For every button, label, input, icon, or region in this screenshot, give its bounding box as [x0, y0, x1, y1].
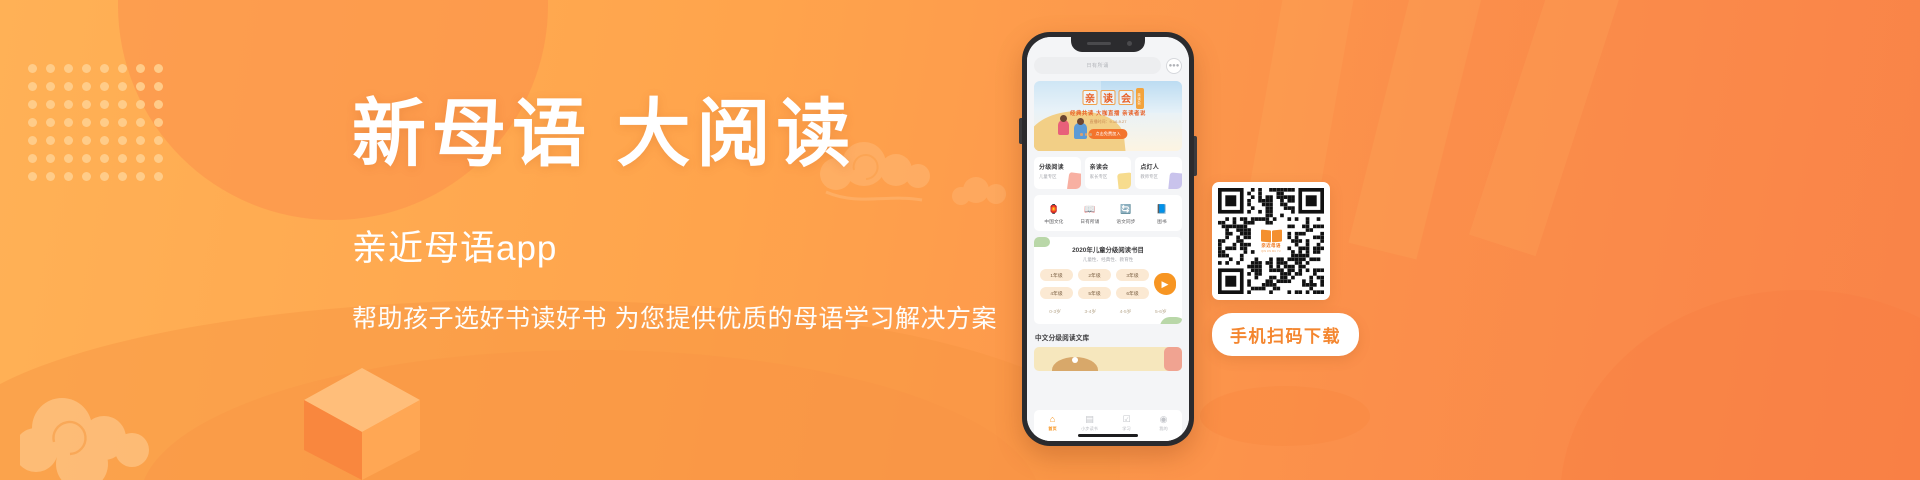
booklist-subtitle: 儿童性、经典性、教育性: [1040, 257, 1176, 263]
grade-pill[interactable]: 3年级: [1116, 269, 1149, 281]
app-ui: 日有所诵 ●●● 亲 读 会 亲读会 经典共读 大咖直播 亲读者说 直播时间：9…: [1027, 37, 1189, 441]
library-card[interactable]: [1034, 347, 1182, 371]
app-name: 亲近母语app: [352, 220, 1012, 271]
tab-reading[interactable]: ▤小步读书: [1071, 415, 1108, 432]
app-icon-label: 图书: [1157, 219, 1167, 225]
age-row: 0-3岁3-4岁4-5岁5-6岁: [1040, 305, 1176, 317]
grade-row-2: 4年级5年级6年级: [1040, 287, 1149, 299]
qr-download-block: 亲近母语 QIN JIN MU YU 手机扫码下载: [1212, 182, 1330, 356]
tab-icon: ◉: [1160, 415, 1168, 424]
grade-pill[interactable]: 2年级: [1078, 269, 1111, 281]
app-category-cards: 分级阅读儿童专区亲读会家长专区点灯人教师专区: [1034, 157, 1182, 189]
tab-home[interactable]: ⌂首页: [1034, 415, 1071, 432]
category-card-title: 点灯人: [1140, 162, 1177, 171]
banner-copy: 新母语 大阅读 亲近母语app 帮助孩子选好书读好书 为您提供优质的母语学习解决…: [352, 96, 1012, 335]
decor-cloud-bottom-left: [20, 376, 190, 480]
category-card[interactable]: 分级阅读儿童专区: [1034, 157, 1081, 189]
category-card[interactable]: 点灯人教师专区: [1135, 157, 1182, 189]
decor-light-ray: [1469, 0, 1628, 256]
phone-screen: 日有所诵 ●●● 亲 读 会 亲读会 经典共读 大咖直播 亲读者说 直播时间：9…: [1027, 37, 1189, 441]
qr-code-icon: 亲近母语 QIN JIN MU YU: [1218, 188, 1324, 294]
hero-flag: 亲读会: [1136, 88, 1144, 109]
age-pill[interactable]: 5-6岁: [1146, 305, 1176, 317]
category-card[interactable]: 亲读会家长专区: [1085, 157, 1132, 189]
app-icon-label: 语文同步: [1116, 219, 1135, 225]
qr-card[interactable]: 亲近母语 QIN JIN MU YU: [1212, 182, 1330, 300]
play-video-button[interactable]: ▶: [1154, 273, 1176, 295]
search-input[interactable]: 日有所诵: [1034, 57, 1161, 74]
hero-carousel-dots[interactable]: [1080, 133, 1092, 136]
tab-label: 小步读书: [1081, 426, 1098, 432]
app-hero-banner[interactable]: 亲 读 会 亲读会 经典共读 大咖直播 亲读者说 直播时间：9.16-9.27 …: [1034, 81, 1182, 151]
book-icon: [1261, 230, 1282, 242]
category-card-shape: [1066, 172, 1080, 189]
booklist-title: 2020年儿童分级阅读书目: [1040, 245, 1176, 254]
app-icon-label: 日有所诵: [1080, 219, 1099, 225]
page-title: 新母语 大阅读: [352, 96, 1012, 176]
decor-circle-under-phone: [1200, 386, 1370, 446]
library-heading: 中文分级阅读文库: [1035, 332, 1181, 342]
chinese-culture-icon: 🏮: [1047, 202, 1061, 216]
hero-char: 会: [1119, 90, 1134, 105]
app-icon-cell[interactable]: 🏮中国文化: [1036, 202, 1072, 225]
age-pill[interactable]: 4-5岁: [1111, 305, 1141, 317]
category-card-shape: [1117, 172, 1131, 189]
age-pill[interactable]: 3-4岁: [1075, 305, 1105, 317]
message-icon[interactable]: ●●●: [1166, 58, 1182, 74]
app-icon-cell[interactable]: 🔄语文同步: [1108, 202, 1144, 225]
phone-mockup: 日有所诵 ●●● 亲 读 会 亲读会 经典共读 大咖直播 亲读者说 直播时间：9…: [1022, 32, 1194, 446]
decor-light-ray: [1348, 0, 1488, 260]
grade-pill[interactable]: 6年级: [1116, 287, 1149, 299]
brand-logo: 亲近母语 QIN JIN MU YU: [1255, 225, 1287, 257]
sync-lesson-icon: 🔄: [1119, 202, 1133, 216]
tab-label: 我的: [1159, 426, 1167, 432]
tab-icon: ⌂: [1050, 415, 1055, 424]
app-booklist-section: 2020年儿童分级阅读书目 儿童性、经典性、教育性 1年级2年级3年级 4年级5…: [1034, 237, 1182, 324]
tab-icon: ☑: [1122, 415, 1130, 424]
tab-mine[interactable]: ◉我的: [1145, 415, 1182, 432]
tab-study[interactable]: ☑学习: [1108, 415, 1145, 432]
decor-circle-bottom-right: [1560, 290, 1920, 480]
grade-pill[interactable]: 1年级: [1040, 269, 1073, 281]
daily-recite-icon: 📖: [1083, 202, 1097, 216]
home-indicator: [1078, 434, 1138, 437]
hero-date: 直播时间：9.16-9.27: [1090, 119, 1127, 125]
phone-notch: [1071, 37, 1145, 52]
promo-banner: 新母语 大阅读 亲近母语app 帮助孩子选好书读好书 为您提供优质的母语学习解决…: [0, 0, 1920, 480]
app-icon-row: 🏮中国文化📖日有所诵🔄语文同步📘图书: [1034, 195, 1182, 231]
category-card-title: 亲读会: [1090, 162, 1127, 171]
download-button[interactable]: 手机扫码下载: [1212, 313, 1359, 356]
tab-icon: ▤: [1085, 415, 1094, 424]
app-icon-label: 中国文化: [1044, 219, 1063, 225]
category-card-title: 分级阅读: [1039, 162, 1076, 171]
brand-name: 亲近母语: [1261, 243, 1281, 249]
tab-label: 首页: [1048, 426, 1056, 432]
decor-hill-secondary: [140, 350, 1040, 480]
hero-subtitle: 经典共读 大咖直播 亲读者说: [1070, 109, 1146, 117]
decor-cube: [300, 362, 424, 480]
hero-title: 亲 读 会: [1083, 90, 1134, 105]
app-icon-cell[interactable]: 📘图书: [1144, 202, 1180, 225]
grade-row-1: 1年级2年级3年级: [1040, 269, 1149, 281]
banner-tagline: 帮助孩子选好书读好书 为您提供优质的母语学习解决方案: [352, 299, 1012, 335]
category-card-shape: [1168, 172, 1182, 189]
hero-join-button[interactable]: 点击免费加入: [1088, 129, 1127, 139]
grade-pill[interactable]: 4年级: [1040, 287, 1073, 299]
hero-char: 读: [1101, 90, 1116, 105]
grade-pill[interactable]: 5年级: [1078, 287, 1111, 299]
brand-name-en: QIN JIN MU YU: [1261, 250, 1280, 253]
app-icon-cell[interactable]: 📖日有所诵: [1072, 202, 1108, 225]
tab-label: 学习: [1122, 426, 1130, 432]
books-icon: 📘: [1155, 202, 1169, 216]
hero-char: 亲: [1083, 90, 1098, 105]
age-pill[interactable]: 0-3岁: [1040, 305, 1070, 317]
